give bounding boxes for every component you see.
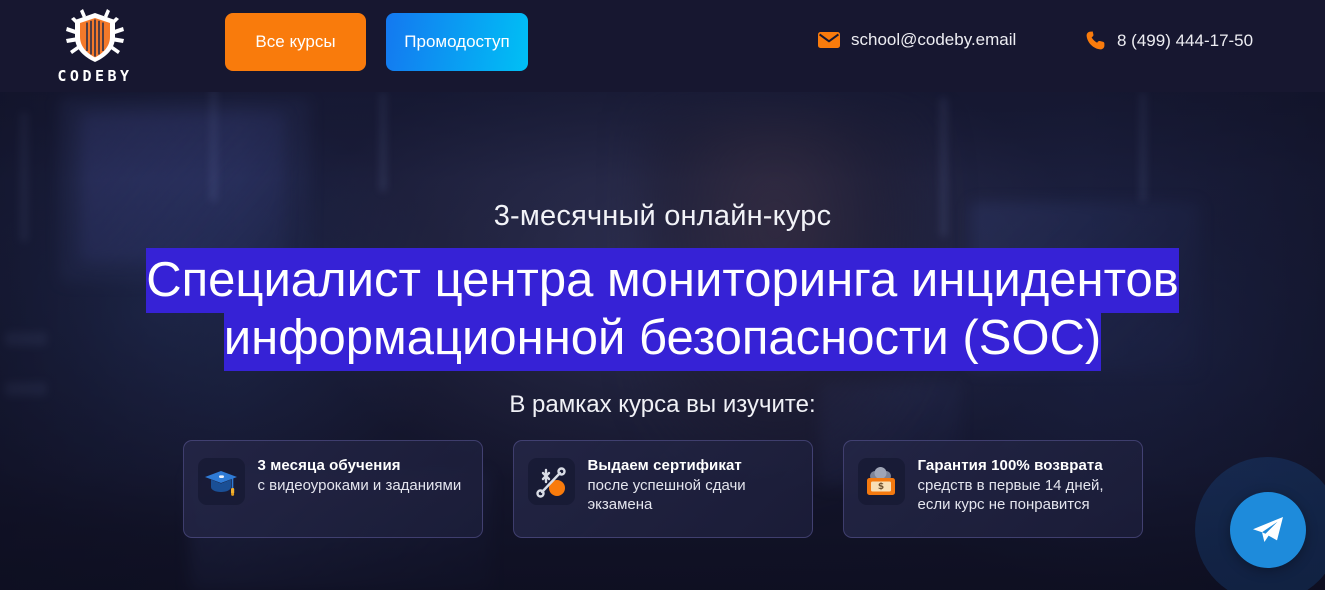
hero-section: 3-месячный онлайн-курс Специалист центра… — [0, 92, 1325, 590]
feature-card-desc: средств в первые 14 дней, если курс не п… — [918, 476, 1128, 514]
certificate-icon — [534, 466, 568, 498]
feature-card-title: 3 месяца обучения — [258, 456, 462, 475]
feature-cards: 3 месяца обучения с видеоуроками и задан… — [183, 440, 1143, 538]
logo-wordmark: CODEBY — [57, 67, 132, 85]
telegram-paper-plane-icon — [1250, 514, 1286, 546]
certificate-icon-wrap — [528, 458, 575, 505]
logo[interactable]: CODEBY — [40, 5, 150, 87]
feature-card-title: Выдаем сертификат — [588, 456, 798, 475]
svg-text:$: $ — [878, 482, 884, 492]
page-title: Специалист центра мониторинга инцидентов… — [83, 251, 1243, 367]
envelope-icon — [818, 32, 840, 48]
graduation-cap-icon — [204, 467, 238, 497]
phone-icon — [1085, 30, 1106, 51]
header-email[interactable]: school@codeby.email — [818, 30, 1016, 50]
page-title-line-1: Специалист центра мониторинга инцидентов — [146, 248, 1179, 313]
header-phone[interactable]: 8 (499) 444-17-50 — [1085, 30, 1253, 51]
header-email-text: school@codeby.email — [851, 30, 1016, 50]
telegram-fab[interactable] — [1195, 457, 1325, 590]
graduation-cap-icon-wrap — [198, 458, 245, 505]
hero-kicker: 3-месячный онлайн-курс — [494, 200, 832, 233]
feature-card-title: Гарантия 100% возврата — [918, 456, 1128, 475]
site-header: CODEBY Все курсы Промодоступ school@code… — [0, 0, 1325, 92]
page-title-line-2: информационной безопасности (SOC) — [224, 306, 1101, 371]
all-courses-button[interactable]: Все курсы — [225, 13, 366, 71]
money-refund-icon: $ — [864, 467, 898, 497]
feature-card-desc: после успешной сдачи экзамена — [588, 476, 798, 514]
hero-subtitle: В рамках курса вы изучите: — [509, 391, 815, 419]
feature-card-desc: с видеоуроками и заданиями — [258, 476, 462, 495]
feature-card-certificate: Выдаем сертификат после успешной сдачи э… — [513, 440, 813, 538]
codeby-spider-shield-logo-icon — [62, 7, 128, 65]
header-phone-text: 8 (499) 444-17-50 — [1117, 31, 1253, 51]
feature-card-refund: $ Гарантия 100% возврата средств в первы… — [843, 440, 1143, 538]
money-refund-icon-wrap: $ — [858, 458, 905, 505]
feature-card-duration: 3 месяца обучения с видеоуроками и задан… — [183, 440, 483, 538]
promo-access-button[interactable]: Промодоступ — [386, 13, 528, 71]
telegram-chat-button[interactable] — [1230, 492, 1306, 568]
